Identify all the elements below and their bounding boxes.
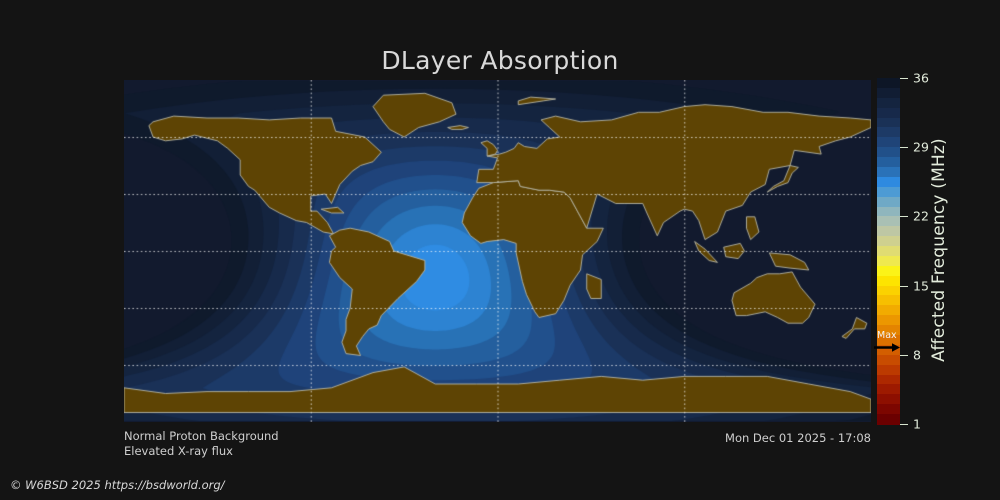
colorbar-gradient (877, 78, 900, 424)
status-proton-background: Normal Proton Background (124, 429, 279, 444)
colorbar-tick-label: 1 (913, 417, 921, 432)
world-map (124, 80, 871, 422)
colorbar-tick (900, 424, 908, 425)
status-xray-flux: Elevated X-ray flux (124, 444, 279, 459)
timestamp: Mon Dec 01 2025 - 17:08 (560, 431, 871, 445)
colorbar-tick (900, 147, 908, 148)
colorbar-axis-label-text: Affected Frequency (MHz) (929, 138, 949, 362)
colorbar-max-annotation: Max (874, 330, 904, 356)
colorbar-axis-label: Affected Frequency (MHz) (924, 60, 954, 440)
colorbar-segment (877, 414, 900, 424)
colorbar-tick (900, 216, 908, 217)
credit-line: © W6BSD 2025 https://bsdworld.org/ (10, 478, 225, 492)
colorbar (877, 78, 900, 424)
colorbar-tick (900, 286, 908, 287)
map-canvas (124, 80, 871, 422)
colorbar-tick (900, 78, 908, 79)
visualization-root: DLayer Absorption 3629221581 Affected Fr… (0, 0, 1000, 500)
colorbar-tick-label: 8 (913, 347, 921, 362)
max-label: Max (877, 330, 897, 341)
status-block: Normal Proton Background Elevated X-ray … (124, 429, 279, 459)
max-arrow-icon (874, 343, 900, 352)
page-title: DLayer Absorption (0, 46, 1000, 75)
